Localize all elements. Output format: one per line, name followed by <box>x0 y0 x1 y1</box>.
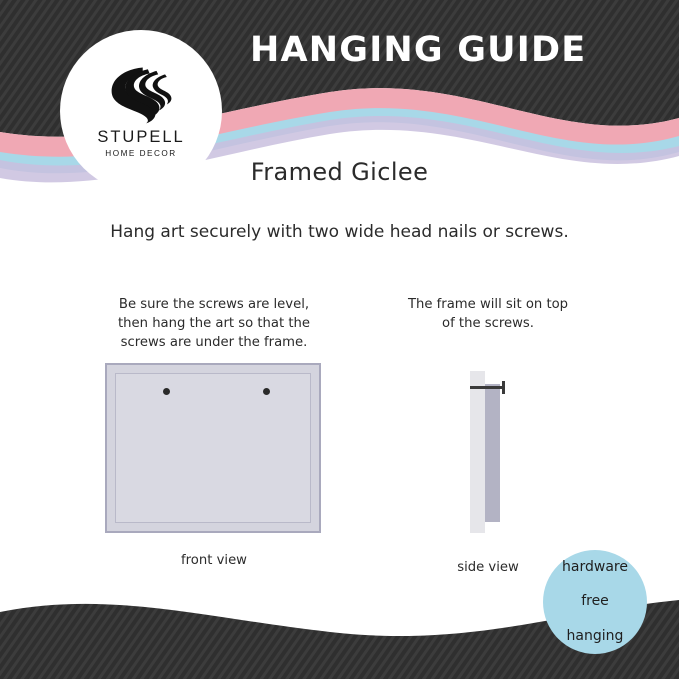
hardware-free-hanging-badge: hardware free hanging <box>543 550 647 654</box>
front-view-caption-line-3: screws are under the frame. <box>86 333 342 352</box>
page-title: HANGING GUIDE <box>250 30 650 70</box>
side-view-caption-line-2: of the screws. <box>380 314 596 333</box>
front-view-mat <box>115 373 311 523</box>
badge-line-1: hardware <box>562 559 628 576</box>
badge-line-3: hanging <box>562 628 628 645</box>
hanging-guide-page: STUPELL HOME DECOR HANGING GUIDE Framed … <box>0 0 679 679</box>
side-view-caption-line-1: The frame will sit on top <box>380 295 596 314</box>
front-view-frame-illustration <box>105 363 321 533</box>
side-view-screw-head-icon <box>502 381 505 394</box>
instruction-text: Hang art securely with two wide head nai… <box>0 222 679 242</box>
side-view-caption: The frame will sit on top of the screws. <box>380 295 596 333</box>
logo-wordmark: STUPELL <box>97 128 184 146</box>
front-view-label: front view <box>86 553 342 568</box>
side-view-frame <box>485 384 500 522</box>
badge-line-2: free <box>562 593 628 610</box>
side-view-wall <box>470 371 485 533</box>
front-view-caption-line-1: Be sure the screws are level, <box>86 295 342 314</box>
front-view-caption-line-2: then hang the art so that the <box>86 314 342 333</box>
front-view-caption: Be sure the screws are level, then hang … <box>86 295 342 352</box>
screw-dot-right-icon <box>263 388 270 395</box>
stupell-s-swoosh-logo-icon <box>98 64 184 126</box>
side-view-screw-icon <box>470 386 505 389</box>
screw-dot-left-icon <box>163 388 170 395</box>
hardware-free-hanging-badge-text: hardware free hanging <box>562 559 628 644</box>
brand-logo-badge: STUPELL HOME DECOR <box>60 30 222 192</box>
logo-tagline: HOME DECOR <box>105 149 176 158</box>
